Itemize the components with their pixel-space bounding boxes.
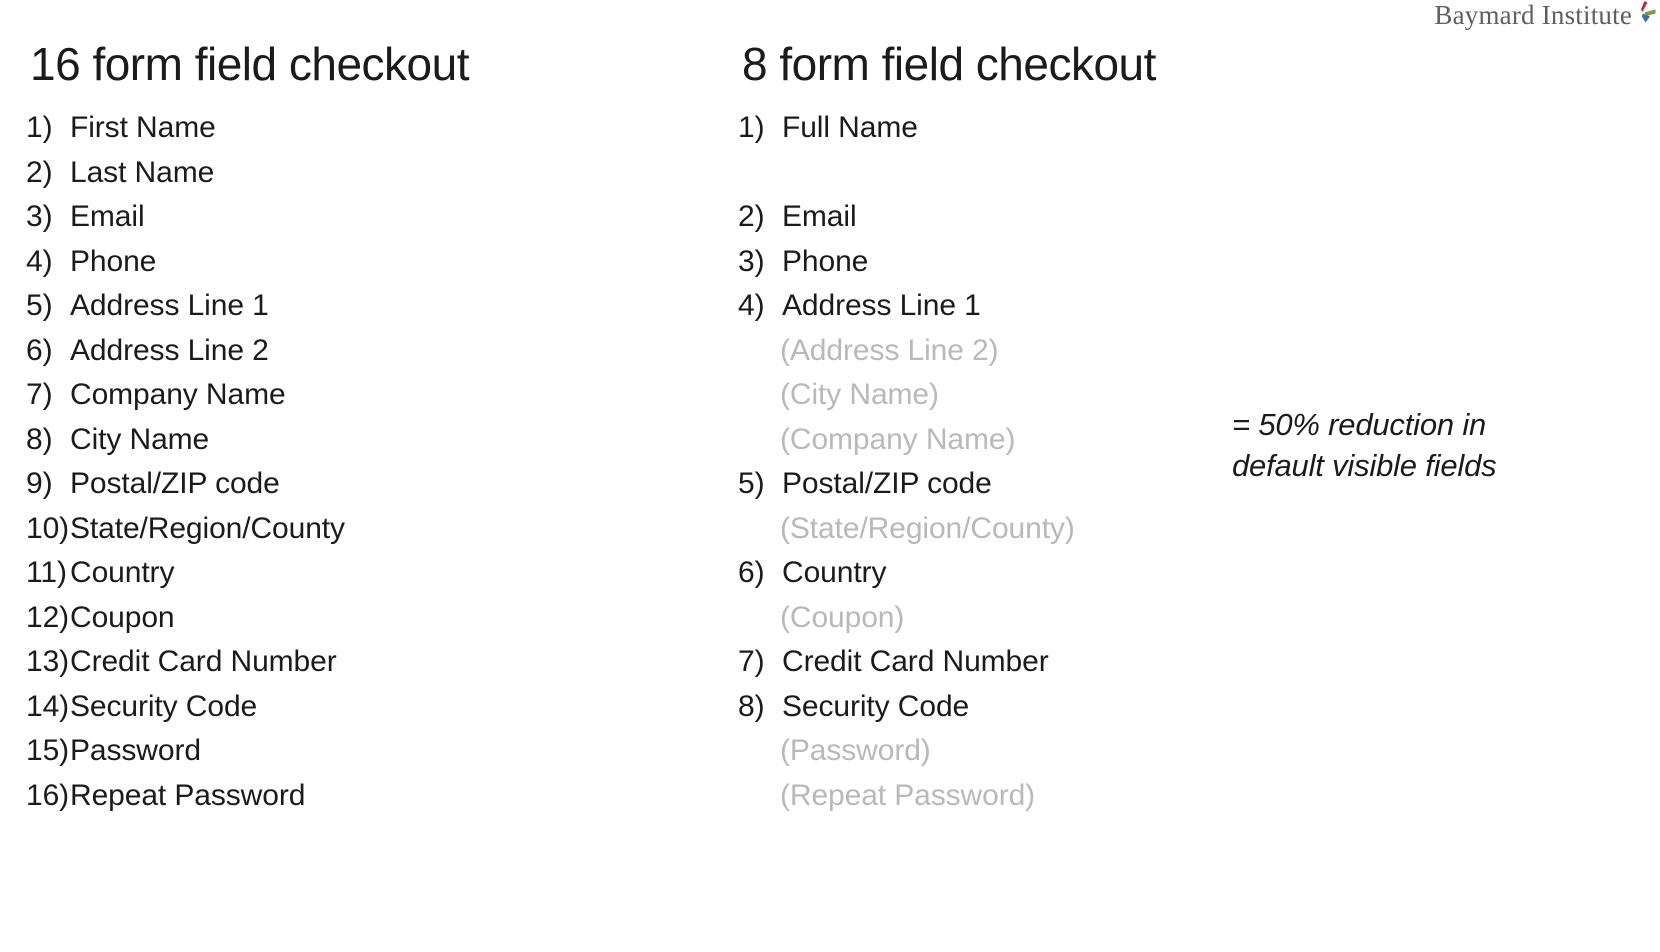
field-row: 16)Repeat Password	[26, 774, 716, 819]
field-row: 2)Last Name	[26, 151, 716, 196]
field-number: 11)	[26, 551, 70, 596]
field-number: 8)	[26, 418, 70, 463]
field-number: 9)	[26, 462, 70, 507]
field-row-spacer	[738, 151, 1338, 196]
field-label: Postal/ZIP code	[782, 467, 992, 500]
field-row: 13)Credit Card Number	[26, 640, 716, 685]
field-number: 3)	[26, 195, 70, 240]
field-number: 1)	[26, 106, 70, 151]
field-label: Password	[70, 734, 201, 767]
field-row: 11)Country	[26, 551, 716, 596]
field-row: 3)Email	[26, 195, 716, 240]
field-number: 4)	[738, 284, 782, 329]
field-list-left: 1)First Name2)Last Name3)Email4)Phone5)A…	[26, 106, 716, 818]
field-number: 1)	[738, 106, 782, 151]
slide-canvas: Baymard Institute 16 form field checkout…	[0, 0, 1660, 952]
field-number: 13)	[26, 640, 70, 685]
field-row: 4)Address Line 1	[738, 284, 1338, 329]
field-row: (Password)	[738, 729, 1338, 774]
field-number: 15)	[26, 729, 70, 774]
field-row: 1)First Name	[26, 106, 716, 151]
field-row: 8)Security Code	[738, 685, 1338, 730]
column-right-title: 8 form field checkout	[742, 40, 1338, 88]
field-label: Phone	[70, 245, 156, 278]
field-label: (City Name)	[780, 378, 939, 411]
field-row: 8)City Name	[26, 418, 716, 463]
field-label: Security Code	[782, 690, 969, 723]
field-number: 7)	[738, 640, 782, 685]
field-row: 7)Company Name	[26, 373, 716, 418]
field-number: 10)	[26, 507, 70, 552]
column-16-fields: 16 form field checkout 1)First Name2)Las…	[26, 40, 716, 818]
field-number: 5)	[738, 462, 782, 507]
field-label: Security Code	[70, 690, 257, 723]
brand-wordmark: Baymard Institute	[1434, 2, 1632, 29]
reduction-annotation: = 50% reduction in default visible field…	[1232, 404, 1562, 486]
column-left-title: 16 form field checkout	[30, 40, 716, 88]
field-label: (Coupon)	[780, 601, 904, 634]
field-row: 14)Security Code	[26, 685, 716, 730]
field-label: (Address Line 2)	[780, 334, 999, 367]
field-label: (Password)	[780, 734, 931, 767]
field-label: Repeat Password	[70, 779, 305, 812]
field-row: 2)Email	[738, 195, 1338, 240]
field-label: Credit Card Number	[70, 645, 337, 678]
field-row: 6)Address Line 2	[26, 329, 716, 374]
field-number: 8)	[738, 685, 782, 730]
field-row: (State/Region/County)	[738, 507, 1338, 552]
field-row: (Repeat Password)	[738, 774, 1338, 819]
field-row: 5)Address Line 1	[26, 284, 716, 329]
field-label: City Name	[70, 423, 209, 456]
field-label: Country	[782, 556, 886, 589]
field-label: Company Name	[70, 378, 286, 411]
field-label: Phone	[782, 245, 868, 278]
field-label: State/Region/County	[70, 512, 345, 545]
field-row: 10)State/Region/County	[26, 507, 716, 552]
field-row: 12)Coupon	[26, 596, 716, 641]
field-label: Last Name	[70, 156, 214, 189]
field-label: Credit Card Number	[782, 645, 1049, 678]
field-number: 5)	[26, 284, 70, 329]
field-label: Coupon	[70, 601, 175, 634]
field-label: Country	[70, 556, 174, 589]
field-number: 2)	[26, 151, 70, 196]
field-row: 15)Password	[26, 729, 716, 774]
field-number: 12)	[26, 596, 70, 641]
field-label: Email	[70, 200, 145, 233]
field-label: (Repeat Password)	[780, 779, 1035, 812]
field-label: (Company Name)	[780, 423, 1015, 456]
field-number: 6)	[26, 329, 70, 374]
field-row: 3)Phone	[738, 240, 1338, 285]
field-number: 16)	[26, 774, 70, 819]
field-number: 7)	[26, 373, 70, 418]
field-row: (Coupon)	[738, 596, 1338, 641]
field-row: 7)Credit Card Number	[738, 640, 1338, 685]
field-label: Address Line 2	[70, 334, 269, 367]
field-label: Address Line 1	[70, 289, 269, 322]
field-label: First Name	[70, 111, 216, 144]
field-row: 6)Country	[738, 551, 1338, 596]
field-number: 14)	[26, 685, 70, 730]
field-label: Address Line 1	[782, 289, 981, 322]
field-row: (Address Line 2)	[738, 329, 1338, 374]
field-row: 1)Full Name	[738, 106, 1338, 151]
field-label: Full Name	[782, 111, 918, 144]
field-number: 4)	[26, 240, 70, 285]
field-label: Email	[782, 200, 857, 233]
brand-logo: Baymard Institute	[1434, 2, 1656, 30]
annotation-line-2: default visible fields	[1232, 445, 1562, 486]
field-row: 4)Phone	[26, 240, 716, 285]
field-row: 9)Postal/ZIP code	[26, 462, 716, 507]
field-number: 3)	[738, 240, 782, 285]
field-label: (State/Region/County)	[780, 512, 1075, 545]
field-number: 6)	[738, 551, 782, 596]
annotation-line-1: = 50% reduction in	[1232, 404, 1562, 445]
baymard-leaf-mark-icon	[1630, 0, 1656, 30]
field-number: 2)	[738, 195, 782, 240]
field-label: Postal/ZIP code	[70, 467, 280, 500]
